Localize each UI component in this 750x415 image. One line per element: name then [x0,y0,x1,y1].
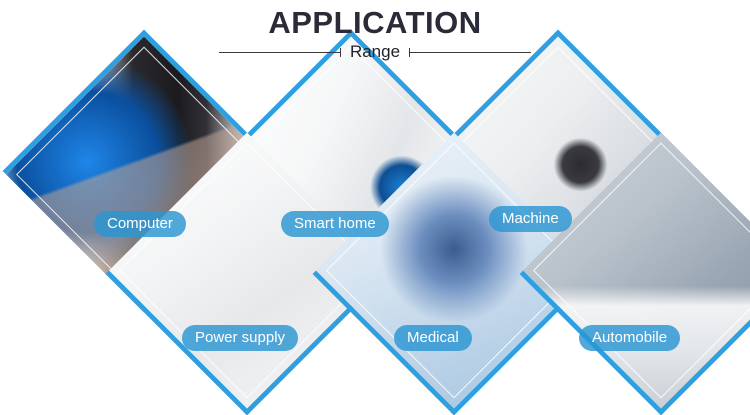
page-header: APPLICATION Range [0,0,750,66]
page-title: APPLICATION [0,0,750,40]
subtitle-row: Range [0,43,750,61]
label-automobile[interactable]: Automobile [579,325,680,351]
subtitle-rule-left [219,52,341,53]
page-subtitle: Range [341,43,409,61]
label-medical[interactable]: Medical [394,325,472,351]
subtitle-rule-right [409,52,531,53]
label-power-supply[interactable]: Power supply [182,325,298,351]
label-computer[interactable]: Computer [94,211,186,237]
label-smarthome[interactable]: Smart home [281,211,389,237]
label-machine[interactable]: Machine [489,206,572,232]
